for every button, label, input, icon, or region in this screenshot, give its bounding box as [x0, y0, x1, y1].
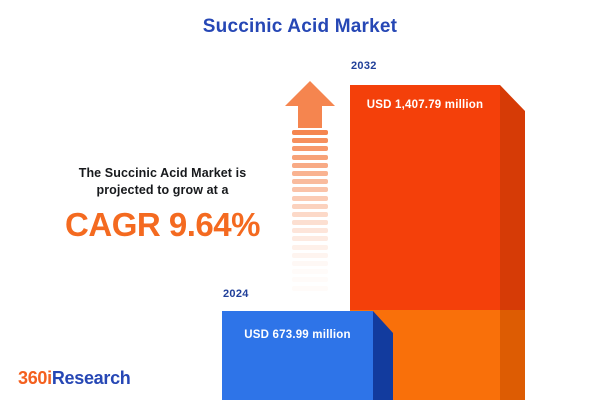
- bar-2024-value-label: USD 673.99 million: [222, 329, 373, 341]
- cagr-lead-line-1: The Succinic Acid Market is: [30, 165, 295, 182]
- bar-2032-side-upper: [500, 85, 525, 310]
- up-arrow-stripe: [292, 179, 328, 184]
- year-label-2024: 2024: [223, 288, 249, 300]
- up-arrow-stripe: [292, 171, 328, 176]
- up-arrow-stripe: [292, 187, 328, 192]
- infographic-canvas: Succinic Acid Market 2032 USD 1,407.79 m…: [0, 0, 600, 400]
- bar-2024: USD 673.99 million: [222, 311, 393, 400]
- bar-2032-face-upper: [350, 85, 500, 310]
- up-arrow-stripe: [292, 261, 328, 266]
- brand-logo: 360iResearch: [18, 368, 131, 389]
- up-arrow-stripe: [292, 277, 328, 282]
- up-arrow-stripe: [292, 253, 328, 258]
- brand-logo-part-one: 360i: [18, 368, 52, 388]
- up-arrow-stripe: [292, 269, 328, 274]
- year-label-2032: 2032: [351, 60, 377, 72]
- bar-2032-side-lower: [500, 310, 525, 400]
- bar-2032-value-label: USD 1,407.79 million: [350, 99, 500, 111]
- up-arrow-stripe: [292, 196, 328, 201]
- up-arrow-stripe: [292, 286, 328, 291]
- up-arrow-stripe: [292, 236, 328, 241]
- up-arrow-stripe: [292, 245, 328, 250]
- up-arrow-head-icon: [284, 80, 336, 128]
- cagr-value: CAGR 9.64%: [30, 206, 295, 244]
- up-arrow-stripe: [292, 138, 328, 143]
- up-arrow-stripe: [292, 228, 328, 233]
- cagr-lead-line-2: projected to grow at a: [30, 182, 295, 199]
- up-arrow-stripe: [292, 155, 328, 160]
- page-title: Succinic Acid Market: [0, 16, 600, 38]
- up-arrow-stripe: [292, 212, 328, 217]
- up-arrow-stripe: [292, 146, 328, 151]
- up-arrow-stripe: [292, 163, 328, 168]
- up-arrow-stripe: [292, 204, 328, 209]
- bar-2024-side: [373, 311, 393, 400]
- up-arrow-stripe: [292, 220, 328, 225]
- brand-logo-part-two: Research: [52, 368, 131, 388]
- cagr-callout: The Succinic Acid Market is projected to…: [30, 165, 295, 244]
- bar-2024-face: [222, 311, 373, 400]
- up-arrow-stripes: [292, 130, 328, 305]
- up-arrow-stripe: [292, 130, 328, 135]
